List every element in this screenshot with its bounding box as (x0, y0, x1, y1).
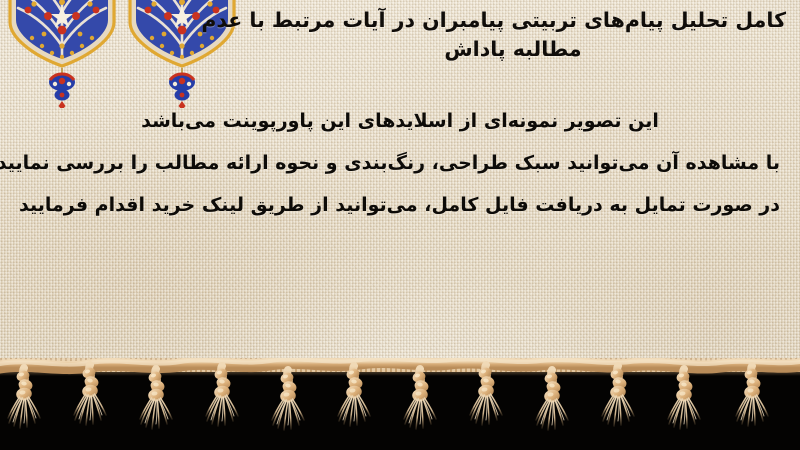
body-line-sample-notice: این تصویر نمونه‌ای از اسلایدهای این پاور… (20, 112, 780, 131)
slide-title-line-2: مطالبه پاداش (240, 35, 786, 64)
slide-title: کامل تحلیل پیام‌های تربیتی پیامبران در آ… (240, 6, 786, 64)
slide-body: این تصویر نمونه‌ای از اسلایدهای این پاور… (20, 112, 780, 215)
carpet-black-band (0, 372, 800, 450)
slide-canvas: کامل تحلیل پیام‌های تربیتی پیامبران در آ… (0, 0, 800, 450)
body-line-purchase-link: در صورت تمایل به دریافت فایل کامل، می‌تو… (20, 196, 780, 215)
carpet-selvedge-ridge (0, 358, 800, 372)
body-line-design-review: با مشاهده آن می‌توانید سبک طراحی، رنگ‌بن… (20, 154, 780, 173)
slide-title-line-1: کامل تحلیل پیام‌های تربیتی پیامبران در آ… (240, 6, 786, 35)
